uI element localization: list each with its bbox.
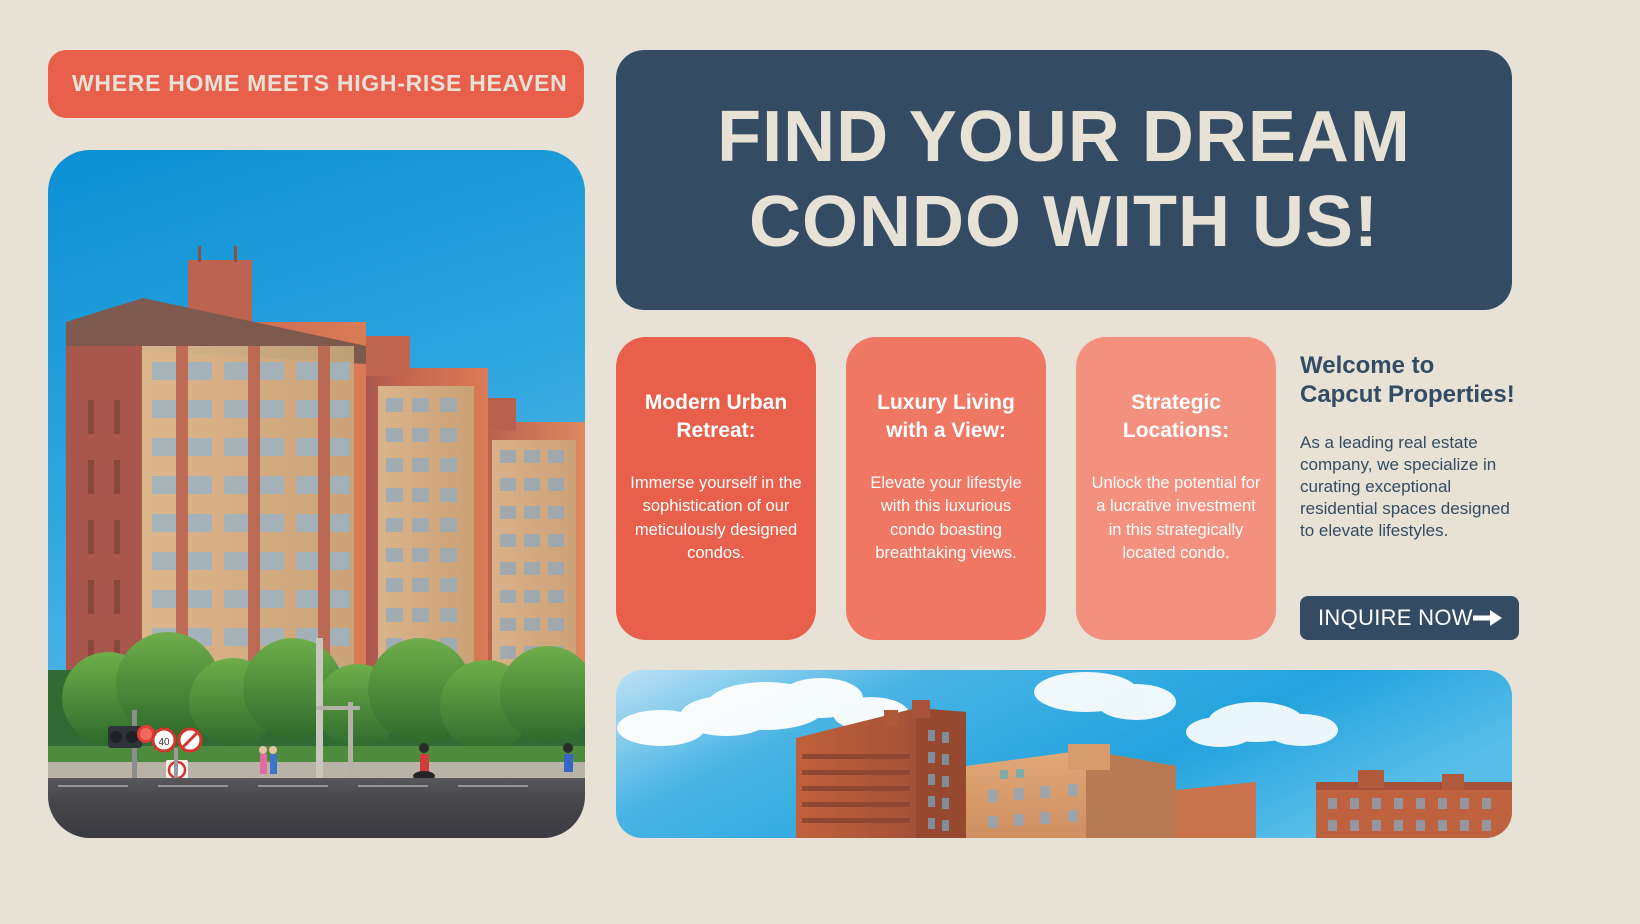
feature-card-modern-urban-retreat[interactable]: Modern Urban Retreat: Immerse yourself i… [616, 337, 816, 640]
welcome-column: Welcome to Capcut Properties! As a leadi… [1300, 352, 1520, 542]
feature-card-body: Elevate your lifestyle with this luxurio… [858, 472, 1034, 566]
tagline-text: WHERE HOME MEETS HIGH-RISE HEAVEN [72, 71, 568, 96]
inquire-now-button[interactable]: INQUIRE NOW [1300, 596, 1519, 640]
headline-line-2: CONDO WITH US! [749, 180, 1379, 265]
headline-banner: FIND YOUR DREAM CONDO WITH US! [616, 50, 1512, 310]
feature-card-body: Unlock the potential for a lucrative inv… [1088, 472, 1264, 566]
tagline-pill: WHERE HOME MEETS HIGH-RISE HEAVEN [48, 50, 584, 118]
poster-canvas: WHERE HOME MEETS HIGH-RISE HEAVEN [0, 0, 1640, 924]
feature-card-strategic-locations[interactable]: Strategic Locations: Unlock the potentia… [1076, 337, 1276, 640]
welcome-title: Welcome to Capcut Properties! [1300, 352, 1520, 410]
feature-card-body: Immerse yourself in the sophistication o… [628, 472, 804, 566]
feature-cards-row: Modern Urban Retreat: Immerse yourself i… [616, 337, 1276, 640]
welcome-body: As a leading real estate company, we spe… [1300, 432, 1520, 542]
arrow-right-icon [1473, 609, 1503, 627]
feature-card-title: Modern Urban Retreat: [628, 389, 804, 446]
bottom-photo-artwork [616, 670, 1512, 838]
feature-card-luxury-living-with-a-view[interactable]: Luxury Living with a View: Elevate your … [846, 337, 1046, 640]
feature-card-title: Luxury Living with a View: [858, 389, 1034, 446]
svg-text:40: 40 [158, 737, 170, 748]
hero-building-photo: 40 [48, 150, 585, 838]
headline-line-1: FIND YOUR DREAM [717, 95, 1411, 180]
inquire-now-label: INQUIRE NOW [1318, 605, 1473, 631]
hero-photo-artwork: 40 [48, 150, 585, 838]
feature-card-title: Strategic Locations: [1088, 389, 1264, 446]
bottom-building-photo [616, 670, 1512, 838]
